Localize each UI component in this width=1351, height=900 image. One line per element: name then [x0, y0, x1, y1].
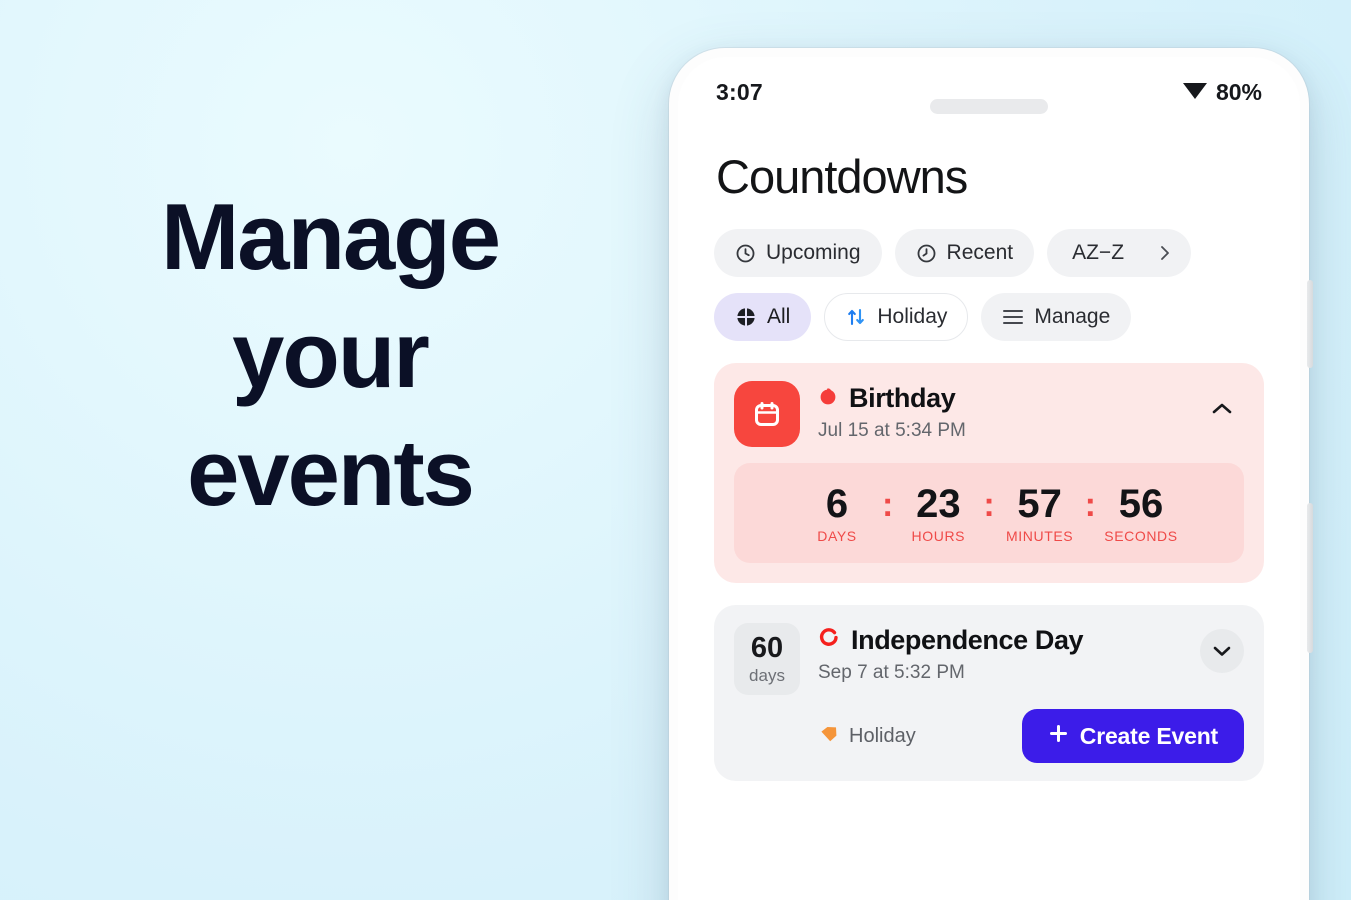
chip-holiday[interactable]: Holiday [824, 293, 968, 341]
phone-screen: 3:07 80% Countdowns Upcoming [678, 57, 1300, 900]
card-subtitle: Jul 15 at 5:34 PM [818, 420, 1182, 442]
category-tag[interactable]: Holiday [818, 724, 916, 749]
timer-seconds-label: SECONDS [1104, 528, 1177, 544]
card-footer: Holiday Create Event [734, 709, 1244, 763]
card-subtitle: Sep 7 at 5:32 PM [818, 662, 1182, 684]
chip-manage[interactable]: Manage [981, 293, 1131, 341]
card-header: 60 days Independence Day Sep 7 at 5:32 P… [734, 623, 1244, 695]
card-header: Birthday Jul 15 at 5:34 PM [734, 381, 1244, 447]
chip-sort-order[interactable]: AZ−Z [1047, 229, 1191, 277]
countdown-timer: 6 DAYS : 23 HOURS : 57 MINUTES : [734, 463, 1244, 563]
clock-icon [735, 243, 756, 264]
chip-recent-label: Recent [947, 241, 1014, 265]
chip-holiday-label: Holiday [877, 305, 947, 329]
calendar-icon [734, 381, 800, 447]
card-title-row: Birthday [818, 383, 1182, 414]
phone-mockup: 3:07 80% Countdowns Upcoming [669, 48, 1309, 900]
chip-sort-order-label: AZ−Z [1072, 241, 1124, 265]
red-ring-icon [818, 627, 840, 654]
timer-hours-label: HOURS [912, 528, 966, 544]
chip-all-label: All [767, 305, 790, 329]
days-remaining-badge: 60 days [734, 623, 800, 695]
create-event-label: Create Event [1080, 723, 1218, 750]
card-title-row: Independence Day [818, 625, 1182, 656]
filter-chip-row: All Holiday Manage [678, 293, 1300, 341]
phone-volume-button[interactable] [1307, 280, 1313, 368]
status-bar: 3:07 80% [678, 57, 1300, 127]
card-title: Independence Day [851, 625, 1083, 656]
timer-separator: : [981, 486, 996, 525]
phone-power-button[interactable] [1307, 503, 1313, 653]
chevron-down-icon[interactable] [1200, 629, 1244, 673]
tag-icon [818, 724, 840, 749]
card-info: Independence Day Sep 7 at 5:32 PM [818, 623, 1182, 684]
chip-upcoming[interactable]: Upcoming [714, 229, 882, 277]
grid-circle-icon [735, 306, 757, 328]
status-time: 3:07 [716, 79, 763, 106]
timer-unit-days: 6 DAYS [794, 483, 880, 544]
notch-pill [930, 99, 1048, 114]
chip-recent[interactable]: Recent [895, 229, 1035, 277]
timer-separator: : [880, 486, 895, 525]
chip-manage-label: Manage [1034, 305, 1110, 329]
promo-line-3: events [0, 414, 660, 532]
timer-hours-value: 23 [916, 483, 961, 525]
countdown-list: Birthday Jul 15 at 5:34 PM 6 DAYS : [678, 363, 1300, 781]
timer-separator: : [1083, 486, 1098, 525]
days-remaining-label: days [749, 667, 785, 684]
timer-seconds-value: 56 [1119, 483, 1164, 525]
timer-days-value: 6 [826, 483, 848, 525]
chip-all[interactable]: All [714, 293, 811, 341]
create-event-button[interactable]: Create Event [1022, 709, 1244, 763]
promo-line-2: your [0, 296, 660, 414]
page-title: Countdowns [678, 127, 1300, 204]
red-dot-icon [818, 386, 838, 411]
card-info: Birthday Jul 15 at 5:34 PM [818, 381, 1182, 442]
timer-unit-seconds: 56 SECONDS [1098, 483, 1184, 544]
wifi-icon [1182, 79, 1208, 106]
sort-chip-row: Upcoming Recent AZ−Z [678, 229, 1300, 277]
timer-minutes-label: MINUTES [1006, 528, 1073, 544]
clock-icon [916, 243, 937, 264]
timer-unit-hours: 23 HOURS [895, 483, 981, 544]
chevron-up-icon[interactable] [1200, 387, 1244, 431]
chevron-right-icon [1158, 243, 1172, 263]
chip-upcoming-label: Upcoming [766, 241, 861, 265]
battery-percent: 80% [1216, 79, 1262, 106]
card-title: Birthday [849, 383, 955, 414]
plus-icon [1048, 723, 1069, 750]
status-indicators: 80% [1182, 79, 1262, 106]
sort-arrows-icon [845, 306, 867, 328]
timer-unit-minutes: 57 MINUTES [997, 483, 1083, 544]
countdown-card-birthday[interactable]: Birthday Jul 15 at 5:34 PM 6 DAYS : [714, 363, 1264, 583]
category-tag-label: Holiday [849, 725, 916, 748]
timer-days-label: DAYS [817, 528, 857, 544]
days-remaining-number: 60 [751, 634, 783, 663]
promo-headline: Manage your events [0, 178, 660, 532]
timer-minutes-value: 57 [1017, 483, 1062, 525]
hamburger-icon [1002, 308, 1024, 326]
promo-line-1: Manage [0, 178, 660, 296]
countdown-card-independence-day[interactable]: 60 days Independence Day Sep 7 at 5:32 P… [714, 605, 1264, 781]
